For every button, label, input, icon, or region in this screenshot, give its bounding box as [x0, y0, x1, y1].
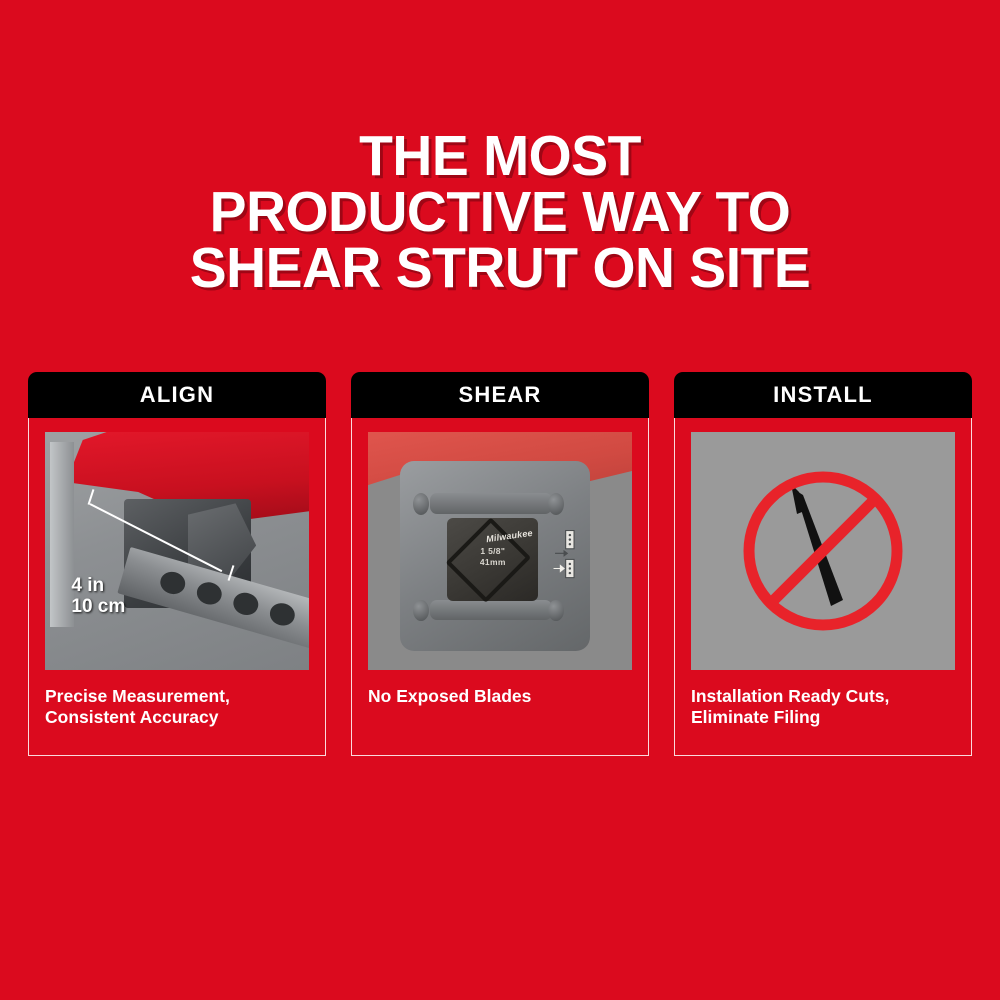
- clamp-bar-top: [430, 493, 552, 514]
- dimension-annotation: 4 in 10 cm: [71, 575, 125, 617]
- align-photo: 4 in 10 cm: [45, 432, 309, 670]
- card-shear-header: SHEAR: [351, 372, 649, 418]
- card-align-body: 4 in 10 cm Precise Measurement, Consiste…: [28, 418, 326, 756]
- strut-hole: [267, 601, 297, 629]
- headline-line-1: THE MOST: [15, 128, 985, 184]
- cutting-die: Milwaukee 1 5/8" 41mm: [447, 518, 538, 602]
- bolt: [413, 600, 429, 622]
- strut-orientation-diagram: [552, 529, 582, 586]
- die-size-marking: 1 5/8" 41mm: [447, 546, 538, 568]
- strut-orientation-icon: [552, 529, 582, 582]
- headline-line-2: PRODUCTIVE WAY TO: [15, 184, 985, 240]
- shear-die-photo: Milwaukee 1 5/8" 41mm: [368, 432, 632, 670]
- card-shear: SHEAR Milwaukee 1 5/8": [351, 372, 649, 756]
- headline-line-3: SHEAR STRUT ON SITE: [15, 240, 985, 296]
- card-install-caption: Installation Ready Cuts, Eliminate Filin…: [691, 686, 941, 728]
- card-align-caption-line-2: Consistent Accuracy: [45, 707, 295, 728]
- bolt: [548, 493, 564, 515]
- no-filing-icon-photo: [691, 432, 955, 670]
- shear-head-plate: Milwaukee 1 5/8" 41mm: [400, 461, 590, 651]
- card-shear-header-label: SHEAR: [458, 382, 541, 408]
- feature-cards-row: ALIGN 4 in 10 cm: [28, 372, 972, 756]
- card-align-header: ALIGN: [28, 372, 326, 418]
- card-install-header-label: INSTALL: [773, 382, 873, 408]
- card-install: INSTALL Installation Ready Cuts, Elimina…: [674, 372, 972, 756]
- card-align-caption: Precise Measurement, Consistent Accuracy: [45, 686, 295, 728]
- clamp-bar-bottom: [430, 600, 552, 621]
- page-headline: THE MOST PRODUCTIVE WAY TO SHEAR STRUT O…: [15, 128, 985, 296]
- card-align: ALIGN 4 in 10 cm: [28, 372, 326, 756]
- card-install-body: Installation Ready Cuts, Eliminate Filin…: [674, 418, 972, 756]
- prohibition-slash: [771, 499, 875, 603]
- bolt: [548, 600, 564, 622]
- strut-hole: [231, 590, 261, 618]
- dimension-metric: 10 cm: [71, 596, 125, 617]
- card-install-header: INSTALL: [674, 372, 972, 418]
- strut-hole: [194, 580, 224, 608]
- card-align-caption-line-1: Precise Measurement,: [45, 686, 295, 707]
- card-install-caption-line-1: Installation Ready Cuts,: [691, 686, 941, 707]
- strut-hole: [158, 570, 188, 598]
- die-size-metric: 41mm: [447, 557, 538, 568]
- card-shear-caption: No Exposed Blades: [368, 686, 618, 707]
- card-shear-body: Milwaukee 1 5/8" 41mm: [351, 418, 649, 756]
- dimension-imperial: 4 in: [71, 575, 125, 596]
- bolt: [413, 493, 429, 515]
- card-install-caption-line-2: Eliminate Filing: [691, 707, 941, 728]
- card-shear-caption-line-1: No Exposed Blades: [368, 686, 618, 707]
- die-size-imperial: 1 5/8": [447, 546, 538, 557]
- card-align-header-label: ALIGN: [140, 382, 214, 408]
- no-file-prohibition-icon: [691, 432, 955, 670]
